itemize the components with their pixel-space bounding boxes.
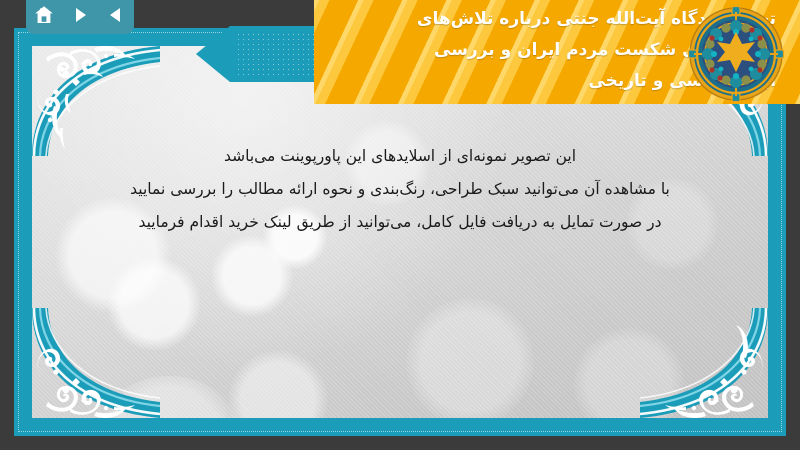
next-slide-button[interactable] [67,2,93,28]
title-banner-dot-pattern [236,32,322,76]
home-icon [33,4,55,26]
islamic-medallion-ornament [688,6,784,102]
home-button[interactable] [31,2,57,28]
body-line: این تصویر نمونه‌ای از اسلایدهای این پاور… [54,140,746,173]
slide-body-text: این تصویر نمونه‌ای از اسلایدهای این پاور… [54,140,746,239]
body-line: در صورت تمایل به دریافت فایل کامل، می‌تو… [54,206,746,239]
triangle-right-icon [70,5,90,25]
presentation-viewer: این تصویر نمونه‌ای از اسلایدهای این پاور… [0,0,800,450]
navigation-toolbar [26,0,134,34]
body-line: با مشاهده آن می‌توانید سبک طراحی، رنگ‌بن… [54,173,746,206]
previous-slide-button[interactable] [103,2,129,28]
triangle-left-icon [106,5,126,25]
